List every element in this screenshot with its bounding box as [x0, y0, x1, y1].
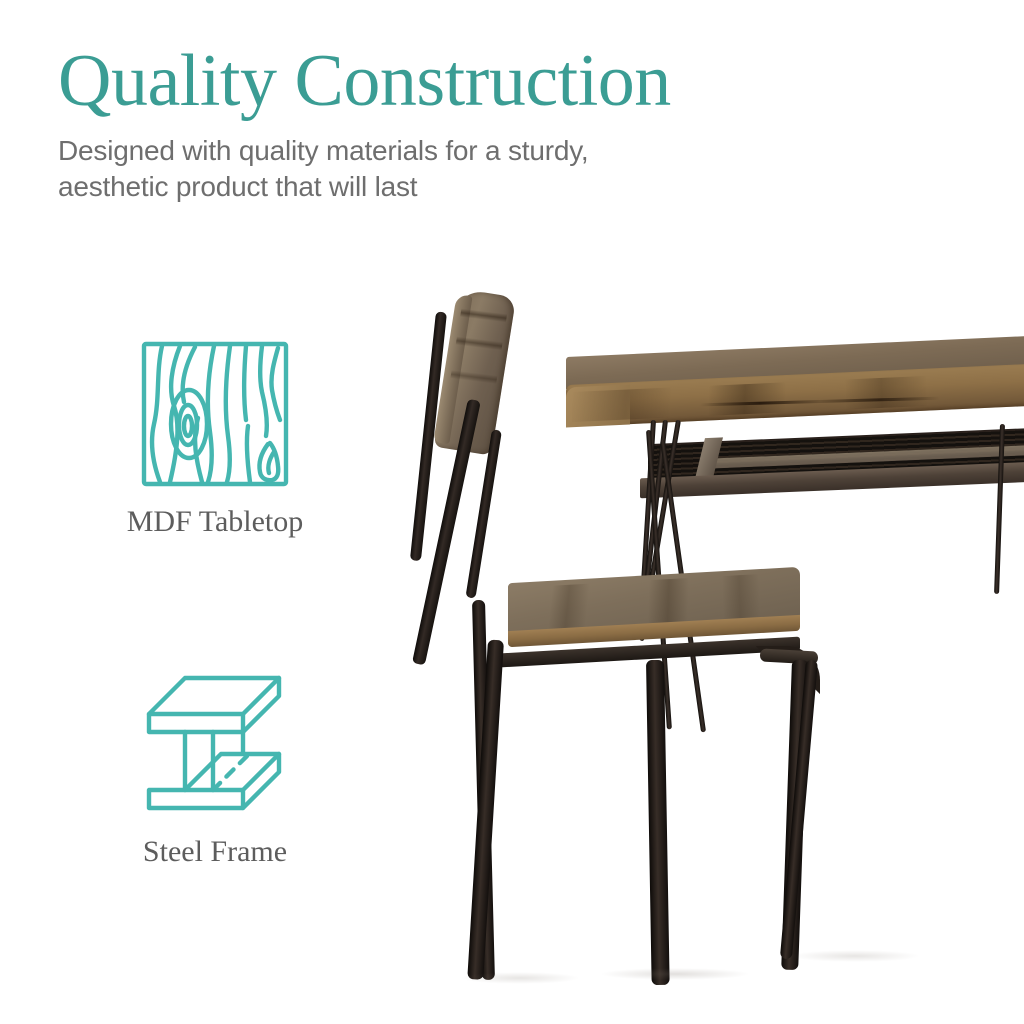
product-photo: [0, 0, 1024, 1024]
floor-shadow: [790, 950, 920, 962]
chair-back-stile: [465, 429, 501, 598]
chair-leg: [467, 640, 504, 980]
product-feature-graphic: Quality Construction Designed with quali…: [0, 0, 1024, 1024]
floor-shadow: [460, 972, 580, 984]
floor-shadow: [600, 968, 750, 980]
